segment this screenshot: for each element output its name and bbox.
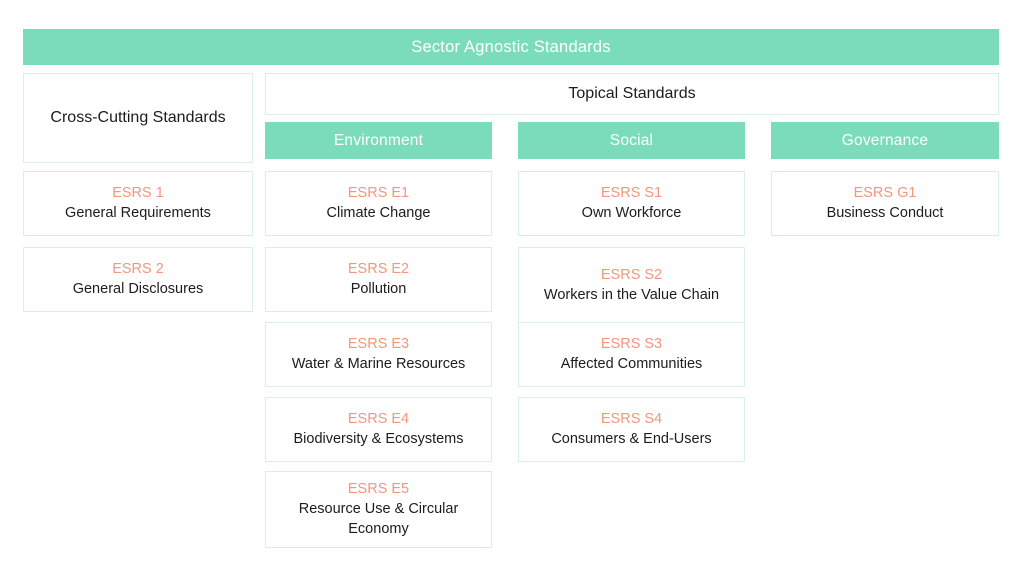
topical-standards-card: Topical Standards <box>265 73 999 115</box>
card-code: ESRS S3 <box>601 334 662 355</box>
topical-standards-title: Topical Standards <box>568 85 695 103</box>
card-name: General Disclosures <box>73 280 204 300</box>
card-esrs-g1: ESRS G1 Business Conduct <box>771 171 999 236</box>
card-esrs-1: ESRS 1 General Requirements <box>23 171 253 236</box>
card-esrs-e2: ESRS E2 Pollution <box>265 247 492 312</box>
card-code: ESRS E2 <box>348 259 409 280</box>
card-code: ESRS E4 <box>348 409 409 430</box>
cross-cutting-standards-title: Cross-Cutting Standards <box>50 109 225 127</box>
card-code: ESRS 1 <box>112 183 164 204</box>
banner-title: Sector Agnostic Standards <box>411 38 610 57</box>
card-esrs-e1: ESRS E1 Climate Change <box>265 171 492 236</box>
category-label: Environment <box>334 132 423 150</box>
card-code: ESRS 2 <box>112 259 164 280</box>
sector-agnostic-standards-banner: Sector Agnostic Standards <box>23 29 999 65</box>
card-name: Resource Use & Circular Economy <box>274 500 483 539</box>
card-esrs-s4: ESRS S4 Consumers & End-Users <box>518 397 745 462</box>
card-name: Pollution <box>351 280 407 300</box>
card-esrs-s1: ESRS S1 Own Workforce <box>518 171 745 236</box>
card-esrs-s2: ESRS S2 Workers in the Value Chain <box>518 247 745 323</box>
cross-cutting-standards-card: Cross-Cutting Standards <box>23 73 253 163</box>
card-name: Water & Marine Resources <box>292 355 466 375</box>
card-code: ESRS E5 <box>348 479 409 500</box>
card-code: ESRS S1 <box>601 183 662 204</box>
card-name: Climate Change <box>327 204 431 224</box>
card-code: ESRS E3 <box>348 334 409 355</box>
card-esrs-2: ESRS 2 General Disclosures <box>23 247 253 312</box>
card-esrs-s3: ESRS S3 Affected Communities <box>518 322 745 387</box>
card-name: Own Workforce <box>582 204 682 224</box>
category-header-environment: Environment <box>265 122 492 159</box>
card-code: ESRS G1 <box>854 183 917 204</box>
card-name: Business Conduct <box>827 204 944 224</box>
card-name: Affected Communities <box>561 355 703 375</box>
card-name: Biodiversity & Ecosystems <box>293 430 463 450</box>
card-name: General Requirements <box>65 204 211 224</box>
card-code: ESRS S2 <box>601 265 662 286</box>
category-header-governance: Governance <box>771 122 999 159</box>
card-esrs-e5: ESRS E5 Resource Use & Circular Economy <box>265 471 492 548</box>
card-esrs-e4: ESRS E4 Biodiversity & Ecosystems <box>265 397 492 462</box>
category-label: Governance <box>842 132 928 150</box>
esrs-standards-diagram: Sector Agnostic Standards Cross-Cutting … <box>0 0 1024 576</box>
card-name: Workers in the Value Chain <box>544 286 719 306</box>
card-esrs-e3: ESRS E3 Water & Marine Resources <box>265 322 492 387</box>
card-code: ESRS S4 <box>601 409 662 430</box>
category-label: Social <box>610 132 653 150</box>
category-header-social: Social <box>518 122 745 159</box>
card-code: ESRS E1 <box>348 183 409 204</box>
card-name: Consumers & End-Users <box>551 430 711 450</box>
